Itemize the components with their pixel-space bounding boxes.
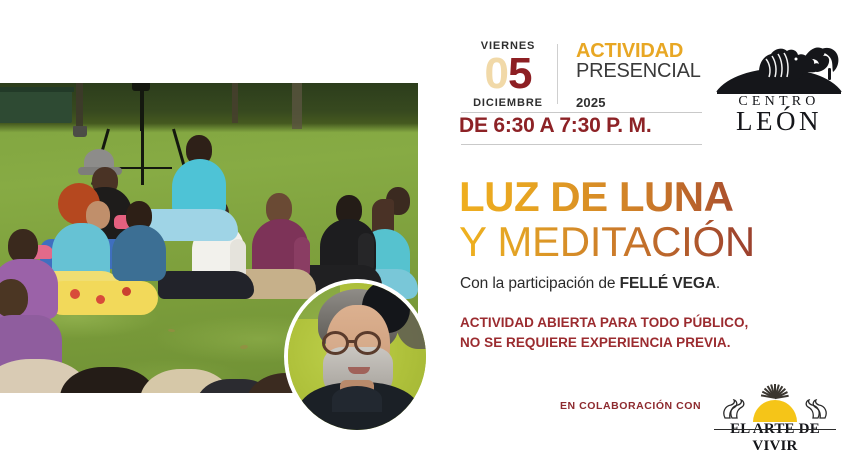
tree-trunk <box>232 83 238 123</box>
speaker-name: FELLÉ VEGA <box>620 275 716 292</box>
el-arte-de-vivir-logo: EL ARTE DE VIVIR <box>712 386 838 430</box>
lion-on-hill-icon <box>703 28 855 98</box>
divider-above-time <box>461 112 702 113</box>
notice-line-1: ACTIVIDAD ABIERTA PARA TODO PÚBLICO, <box>460 313 748 333</box>
speaker-portrait <box>288 283 426 430</box>
event-time: DE 6:30 A 7:30 P. M. <box>459 114 651 138</box>
sun-icon <box>753 400 797 422</box>
modality-line-2: PRESENCIAL <box>576 61 701 82</box>
bolster-pattern <box>122 287 131 296</box>
event-notice: ACTIVIDAD ABIERTA PARA TODO PÚBLICO, NO … <box>460 313 748 352</box>
event-title: LUZ DE LUNA Y MEDITACIÓN <box>459 176 859 264</box>
modality-line-1: ACTIVIDAD <box>576 41 701 61</box>
eyeglasses-right-lens <box>354 331 381 355</box>
speaker-credit: Con la participación de FELLÉ VEGA. <box>460 275 720 293</box>
bolster-pattern <box>96 295 105 304</box>
shed-lid <box>0 87 74 92</box>
event-date: VIERNES 05 DICIEMBRE <box>459 38 557 110</box>
event-day-digit: 5 <box>508 49 531 98</box>
event-year: 2025 <box>576 95 701 110</box>
shed-object <box>0 89 72 123</box>
bucket-object <box>73 126 87 137</box>
eyeglasses-left-lens <box>322 331 349 355</box>
event-meta-bar: VIERNES 05 DICIEMBRE ACTIVIDAD PRESENCIA… <box>459 38 704 110</box>
event-title-line-1: LUZ DE LUNA <box>459 176 859 219</box>
bolster-pattern <box>70 289 80 299</box>
tree-trunk <box>76 83 83 127</box>
event-day-zero: 0 <box>485 49 508 98</box>
tree-trunk <box>292 83 302 129</box>
content-panel: VIERNES 05 DICIEMBRE ACTIVIDAD PRESENCIA… <box>459 0 861 454</box>
credit-suffix: . <box>716 275 720 292</box>
credit-prefix: Con la participación de <box>460 275 620 292</box>
shirt-collar <box>332 386 382 412</box>
partner-underline <box>714 429 836 430</box>
partner-name: EL ARTE DE VIVIR <box>712 421 838 455</box>
mouth <box>348 367 370 374</box>
centro-leon-word-bottom: LEÓN <box>703 108 855 135</box>
swan-right-icon <box>803 399 830 420</box>
collaboration-label: EN COLABORACIÓN CON <box>560 400 701 412</box>
notice-line-2: NO SE REQUIERE EXPERIENCIA PREVIA. <box>460 333 748 353</box>
event-modality: ACTIVIDAD PRESENCIAL 2025 <box>558 38 701 110</box>
swan-left-icon <box>720 399 747 420</box>
centro-leon-logo: CENTRO LEÓN <box>703 28 855 140</box>
event-title-line-2: Y MEDITACIÓN <box>459 220 859 264</box>
divider-below-time <box>461 144 702 145</box>
eyeglasses-bridge <box>348 340 356 343</box>
event-month: DICIEMBRE <box>459 97 557 109</box>
event-day: 05 <box>459 53 557 95</box>
